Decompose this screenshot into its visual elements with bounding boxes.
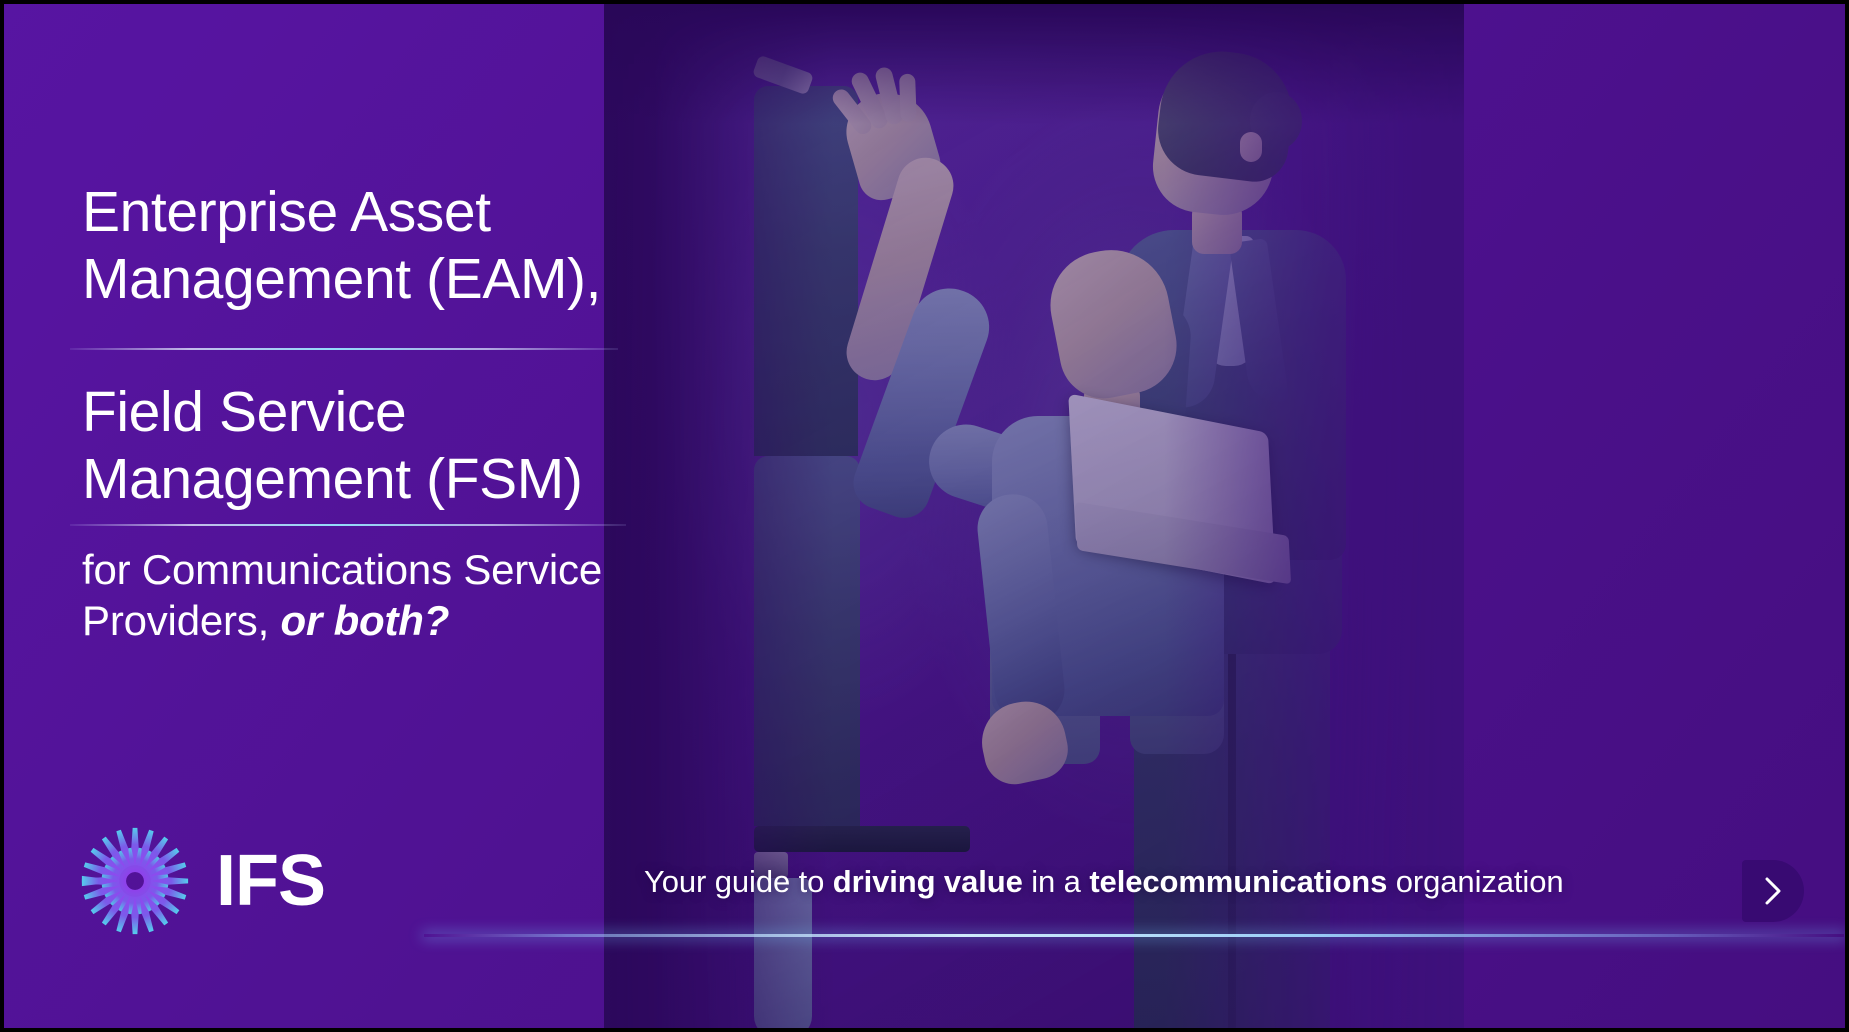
content-layer: Enterprise AssetManagement (EAM), Field … <box>4 4 1845 1028</box>
page-title: Enterprise AssetManagement (EAM), <box>82 179 722 312</box>
headline-line-3: Field Service <box>82 380 406 444</box>
page-subheading: for Communications Service Providers, or… <box>82 544 742 646</box>
headline-line-4: Management (FSM) <box>82 447 582 511</box>
divider-rule-2 <box>70 524 626 526</box>
caption-part-1: Your guide to <box>644 864 833 899</box>
divider-rule-1 <box>70 348 618 350</box>
ifs-spiral-logo-icon <box>76 822 194 940</box>
caption-part-3: organization <box>1387 864 1563 899</box>
headline-line-2: Management (EAM), <box>82 247 601 311</box>
chevron-right-icon <box>1760 875 1786 907</box>
caption-part-2: in a <box>1023 864 1090 899</box>
caption-bold-driving-value: driving value <box>833 864 1023 899</box>
page-subtitle: Field ServiceManagement (FSM) <box>82 379 722 512</box>
headline-line-1: Enterprise Asset <box>82 180 491 244</box>
brand-wordmark: IFS <box>216 845 325 917</box>
brand-logo[interactable]: IFS <box>76 822 325 940</box>
caption-bold-telecommunications: telecommunications <box>1089 864 1387 899</box>
next-button[interactable] <box>1742 860 1804 922</box>
cover-slide: Enterprise AssetManagement (EAM), Field … <box>0 0 1849 1032</box>
divider-glow-line <box>424 934 1844 937</box>
footer-caption: Your guide to driving value in a telecom… <box>644 862 1563 902</box>
subheading-emphasis: or both? <box>281 597 450 644</box>
